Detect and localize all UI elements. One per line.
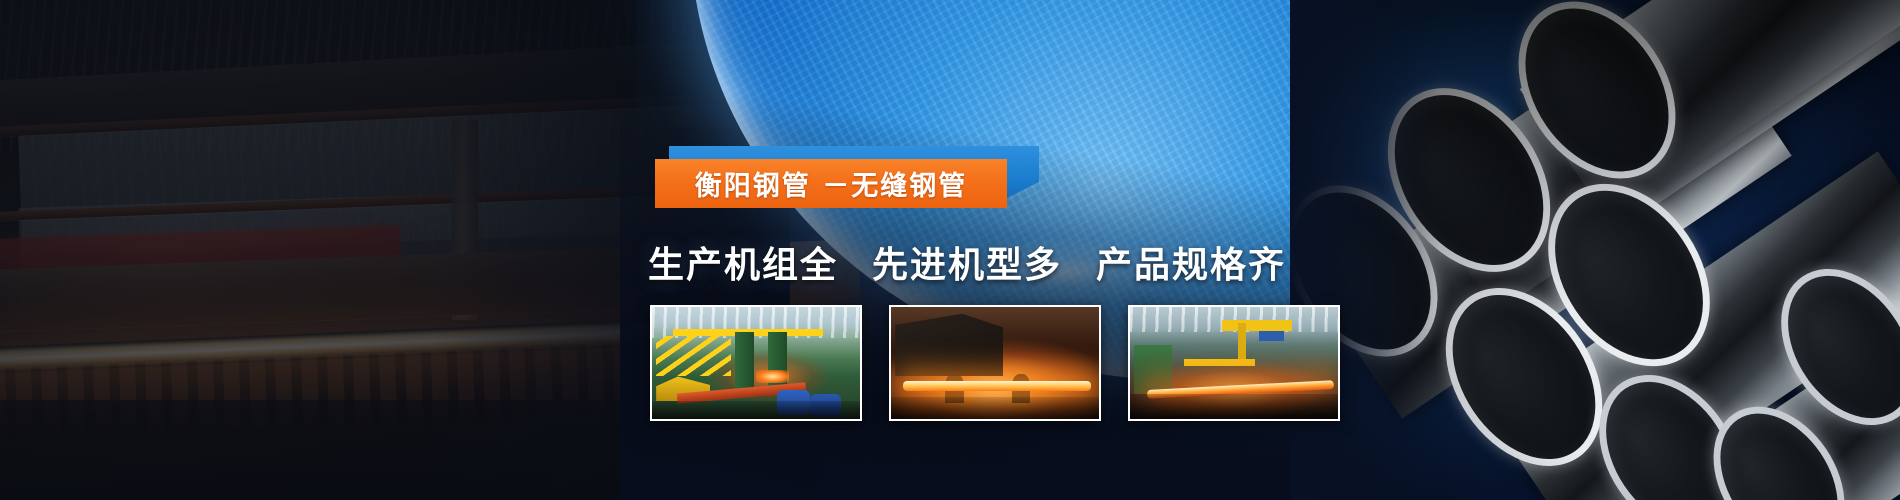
headline-part-1: 生产机组全 [648, 245, 838, 286]
banner-content: 衡阳钢管 －无缝钢管 生产机组全先进机型多产品规格齐 [0, 0, 1900, 500]
promotional-banner: 衡阳钢管 －无缝钢管 生产机组全先进机型多产品规格齐 [0, 0, 1900, 500]
thumbnail-image-1 [652, 307, 860, 419]
thumbnail-hot-billet-rolling[interactable] [889, 305, 1101, 421]
thumbnail-image-3 [1130, 307, 1338, 419]
headline-part-3: 产品规格齐 [1096, 245, 1286, 286]
thumbnail-image-2 [891, 307, 1099, 419]
title-tag: 衡阳钢管 －无缝钢管 [655, 146, 1055, 212]
thumbnail-hot-pipe-conveyor[interactable] [1128, 305, 1340, 421]
tag-orange-plate: 衡阳钢管 －无缝钢管 [655, 159, 1007, 208]
headline: 生产机组全先进机型多产品规格齐 [648, 236, 1286, 288]
tag-label: 衡阳钢管 －无缝钢管 [695, 164, 967, 203]
headline-part-2: 先进机型多 [872, 245, 1062, 286]
thumbnail-strip [650, 305, 1340, 421]
thumbnail-rolling-mill-workshop[interactable] [650, 305, 862, 421]
